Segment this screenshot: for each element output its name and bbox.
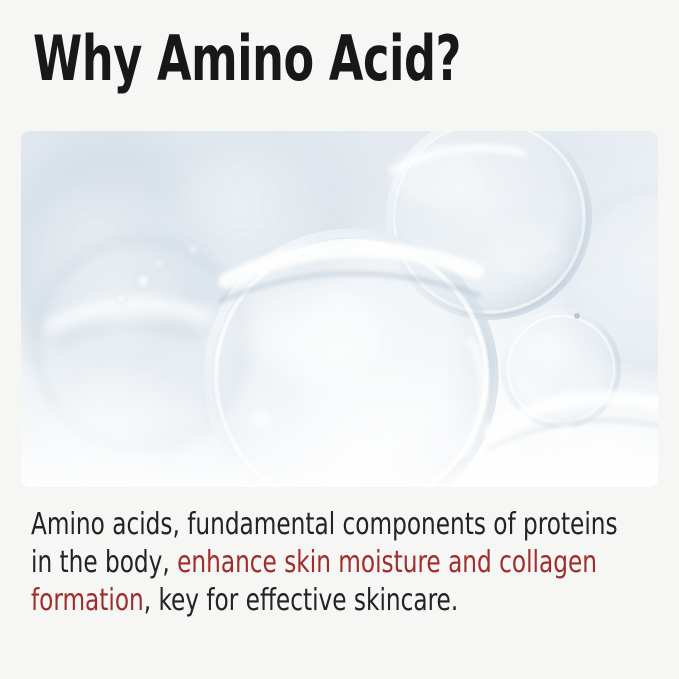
body-copy: Amino acids, fundamental components of p…: [31, 506, 569, 620]
body-line-3-suffix: , key for effective skincare.: [144, 583, 458, 618]
body-line-2: in the body, enhance skin moisture and c…: [31, 544, 569, 582]
body-line-1: Amino acids, fundamental components of p…: [31, 506, 569, 544]
body-line-3-accent: formation: [31, 583, 144, 618]
bubbles-photo: [21, 131, 658, 487]
body-line-3: formation, key for effective skincare.: [31, 582, 569, 620]
page-title: Why Amino Acid?: [33, 24, 529, 94]
bubbles-illustration: [21, 131, 658, 487]
body-line-2-prefix: in the body,: [31, 545, 177, 580]
body-line-2-accent: enhance skin moisture and collagen: [177, 545, 597, 580]
product-info-card: Why Amino Acid?: [0, 0, 679, 679]
